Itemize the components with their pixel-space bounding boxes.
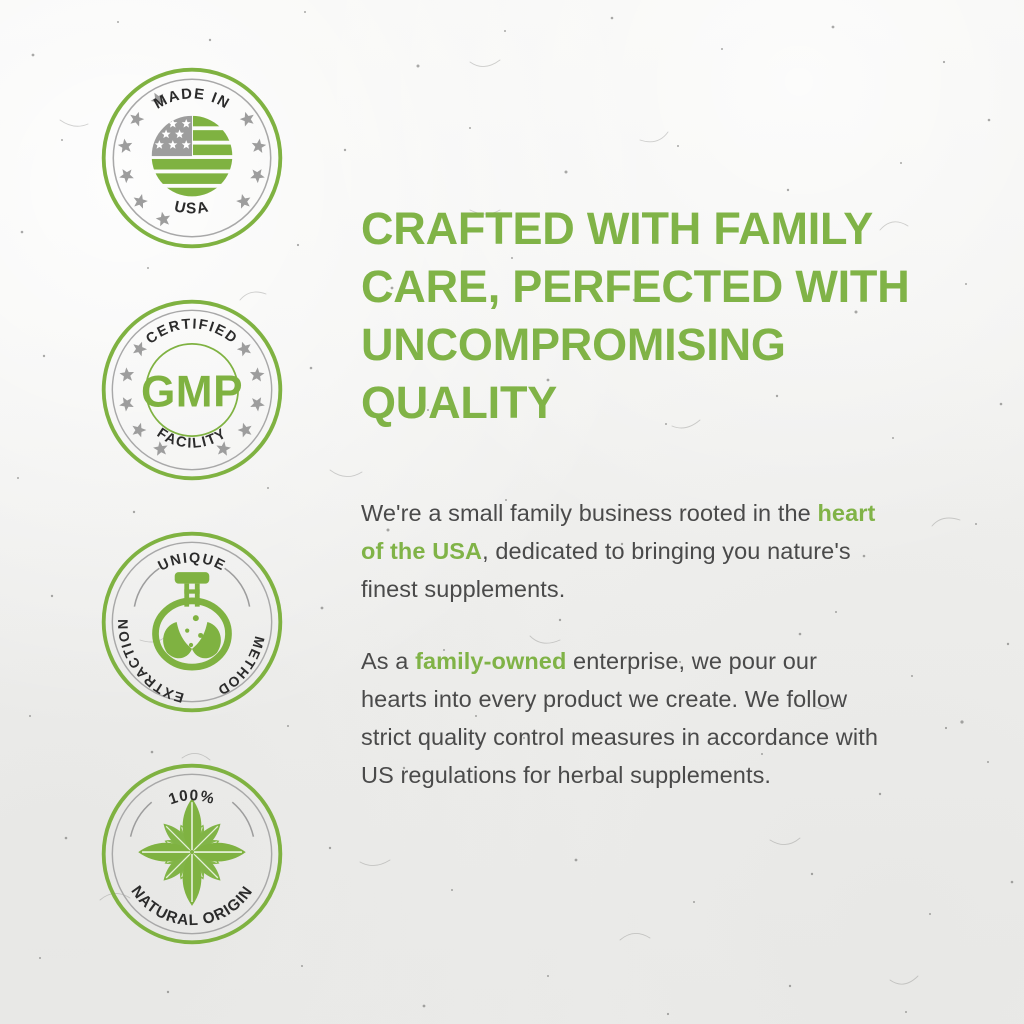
badge-gmp-certified-facility[interactable]: GMP CERTIFIED FACILITY: [96, 294, 288, 486]
gmp-seal-icon: GMP CERTIFIED FACILITY: [96, 294, 288, 486]
svg-text:USA: USA: [173, 198, 212, 217]
badge-top-label: MADE IN: [152, 86, 233, 112]
badge-top-label: UNIQUE: [156, 550, 229, 574]
paragraph-text: As a: [361, 648, 415, 674]
content-column: CRAFTED WITH FAMILY CARE, PERFECTED WITH…: [361, 200, 921, 794]
badge-natural-origin[interactable]: 100% NATURAL ORIGIN: [96, 758, 288, 950]
rosette-graphic: [138, 798, 246, 906]
svg-text:METHOD: METHOD: [214, 635, 268, 700]
paragraph: We're a small family business rooted in …: [361, 494, 881, 608]
certification-badges-column: MADE IN USA: [96, 62, 292, 990]
page-headline: CRAFTED WITH FAMILY CARE, PERFECTED WITH…: [361, 200, 917, 432]
badge-unique-extraction-method[interactable]: UNIQUE EXTRACTION METHOD: [96, 526, 288, 718]
badge-bottom-label: USA: [173, 198, 212, 217]
flask-graphic: [156, 572, 229, 667]
infographic-page: MADE IN USA: [0, 0, 1024, 1024]
flag-graphic: [146, 116, 239, 199]
usa-flag-circle-icon: MADE IN USA: [96, 62, 288, 254]
svg-text:UNIQUE: UNIQUE: [156, 550, 229, 574]
gmp-center-label: GMP: [141, 367, 243, 416]
flask-leaf-icon: UNIQUE EXTRACTION METHOD: [96, 526, 288, 718]
paragraph-text: We're a small family business rooted in …: [361, 500, 817, 526]
paragraph: As a family-owned enterprise, we pour ou…: [361, 642, 881, 794]
badge-right-label: METHOD: [214, 635, 268, 700]
badge-top-label: CERTIFIED: [143, 316, 240, 347]
svg-text:MADE IN: MADE IN: [152, 86, 233, 112]
body-paragraphs: We're a small family business rooted in …: [361, 494, 921, 794]
svg-text:CERTIFIED: CERTIFIED: [143, 316, 240, 347]
badge-made-in-usa[interactable]: MADE IN USA: [96, 62, 288, 254]
highlighted-phrase: family-owned: [415, 648, 566, 674]
leaf-rosette-icon: 100% NATURAL ORIGIN: [96, 758, 288, 950]
